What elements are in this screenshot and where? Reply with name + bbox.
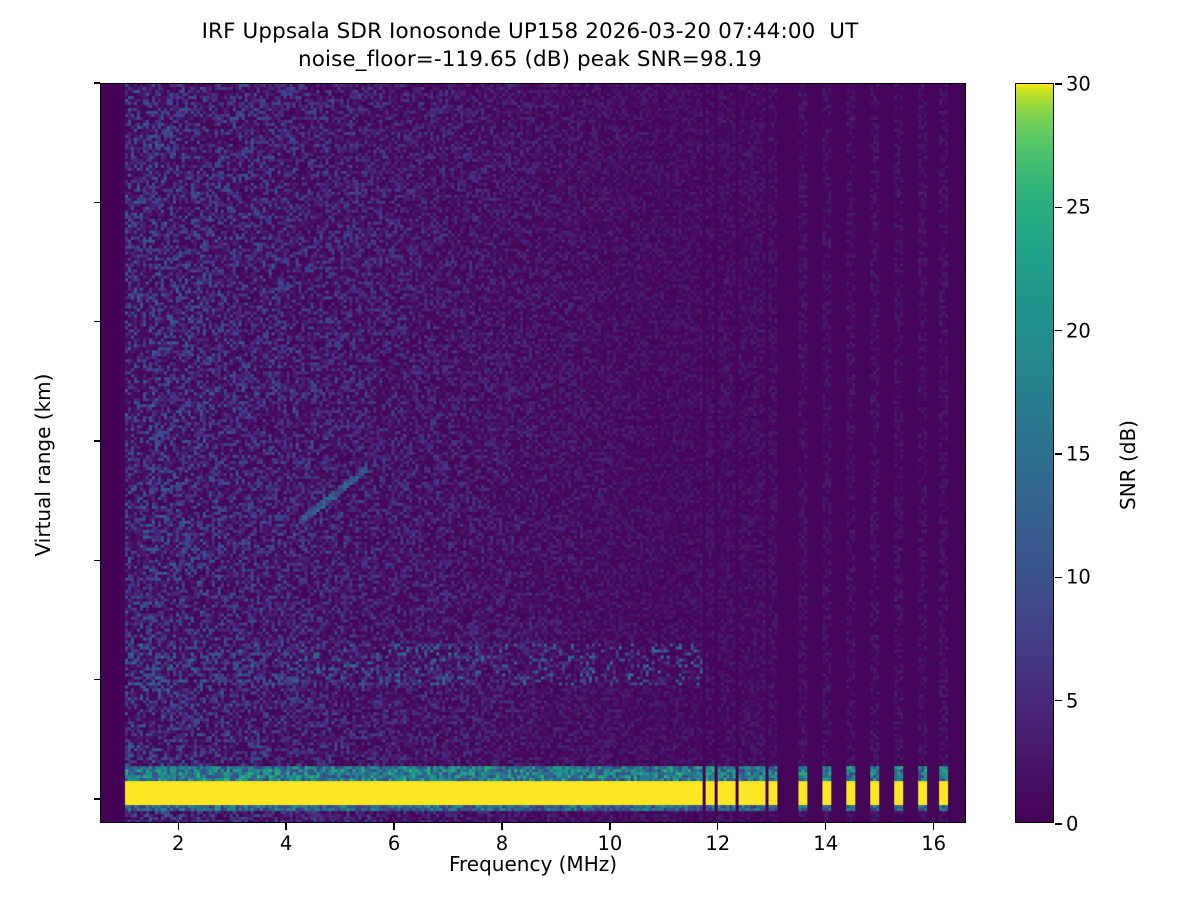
colorbar-tick-label: 10 [1066, 566, 1091, 589]
x-tick-mark [609, 823, 610, 830]
colorbar-tick-mark [1055, 577, 1062, 578]
figure-title: IRF Uppsala SDR Ionosonde UP158 2026-03-… [0, 18, 1060, 75]
colorbar-tick-mark [1055, 823, 1062, 824]
colorbar-tick-label: 5 [1066, 689, 1078, 712]
x-tick-mark [393, 823, 394, 830]
y-tick-mark [94, 321, 101, 322]
ionogram-figure: IRF Uppsala SDR Ionosonde UP158 2026-03-… [0, 0, 1200, 900]
colorbar-tick-mark [1055, 330, 1062, 331]
colorbar-tick-label: 25 [1066, 196, 1091, 219]
x-tick-mark [285, 823, 286, 830]
colorbar-tick-label: 20 [1066, 319, 1091, 342]
title-line-secondary: noise_floor=-119.65 (dB) peak SNR=98.19 [0, 46, 1060, 74]
x-axis-title: Frequency (MHz) [100, 852, 966, 876]
colorbar-tick-mark [1055, 207, 1062, 208]
colorbar-tick-mark [1055, 453, 1062, 454]
colorbar-tick-mark [1055, 83, 1062, 84]
colorbar-tick-label: 0 [1066, 813, 1078, 836]
y-tick-mark [94, 82, 101, 83]
y-tick-mark [94, 679, 101, 680]
x-tick-mark [717, 823, 718, 830]
y-tick-mark [94, 560, 101, 561]
y-tick-mark [94, 440, 101, 441]
colorbar-tick-mark [1055, 700, 1062, 701]
x-tick-mark [825, 823, 826, 830]
y-tick-mark [94, 798, 101, 799]
colorbar: 051015202530 [1015, 83, 1054, 823]
colorbar-tick-label: 30 [1066, 73, 1091, 96]
ionogram-heatmap [101, 84, 965, 822]
x-tick-mark [501, 823, 502, 830]
colorbar-tick-label: 15 [1066, 443, 1091, 466]
x-tick-mark [933, 823, 934, 830]
x-tick-mark [178, 823, 179, 830]
colorbar-title: SNR (dB) [1116, 165, 1140, 765]
y-tick-mark [94, 202, 101, 203]
y-axis-title: Virtual range (km) [31, 165, 55, 765]
title-line-primary: IRF Uppsala SDR Ionosonde UP158 2026-03-… [0, 18, 1060, 46]
ionogram-plot-area[interactable] [100, 83, 966, 823]
